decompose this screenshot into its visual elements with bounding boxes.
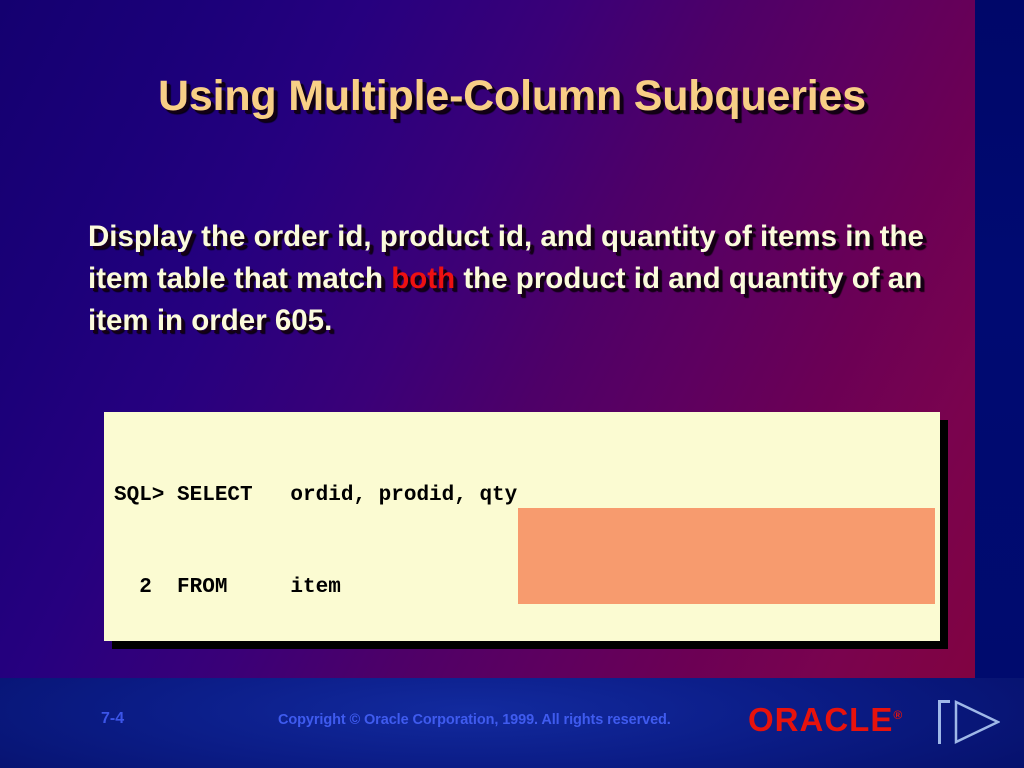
- next-slide-triangle-icon[interactable]: [954, 700, 1000, 744]
- body-paragraph: Display the order id, product id, and qu…: [88, 216, 958, 342]
- oracle-logo: ORACLE®: [748, 701, 902, 739]
- background-right-strip: [975, 0, 1024, 700]
- page-title: Using Multiple-Column Subqueries: [92, 68, 932, 124]
- copyright-notice: Copyright © Oracle Corporation, 1999. Al…: [278, 712, 671, 728]
- nav-bar-top-icon: [938, 700, 950, 703]
- code-lines: SQL> SELECT ordid, prodid, qty 2 FROM it…: [104, 412, 940, 641]
- code-line: SQL> SELECT ordid, prodid, qty: [104, 481, 940, 512]
- slide: Using Multiple-Column Subqueries Display…: [0, 0, 1024, 768]
- code-line: 2 FROM item: [104, 573, 940, 604]
- page-number: 7-4: [101, 710, 124, 728]
- nav-bar-icon[interactable]: [938, 700, 941, 744]
- oracle-logo-text: ORACLE: [748, 701, 893, 738]
- body-text-highlight: both: [391, 262, 455, 295]
- registered-trademark-icon: ®: [893, 708, 902, 722]
- code-block: SQL> SELECT ordid, prodid, qty 2 FROM it…: [104, 412, 940, 641]
